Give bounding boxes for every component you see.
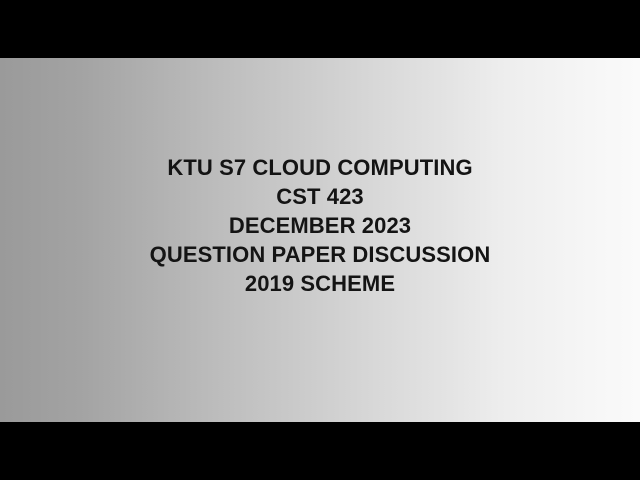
title-text-block: KTU S7 CLOUD COMPUTING CST 423 DECEMBER … [0,153,640,298]
title-line-exam-session: DECEMBER 2023 [0,211,640,240]
title-line-topic: QUESTION PAPER DISCUSSION [0,240,640,269]
title-line-course: KTU S7 CLOUD COMPUTING [0,153,640,182]
letterbox-bar-bottom [0,422,640,480]
title-line-scheme: 2019 SCHEME [0,269,640,298]
video-frame: KTU S7 CLOUD COMPUTING CST 423 DECEMBER … [0,0,640,480]
letterbox-bar-top [0,0,640,58]
title-line-course-code: CST 423 [0,182,640,211]
slide-content-area: KTU S7 CLOUD COMPUTING CST 423 DECEMBER … [0,58,640,422]
